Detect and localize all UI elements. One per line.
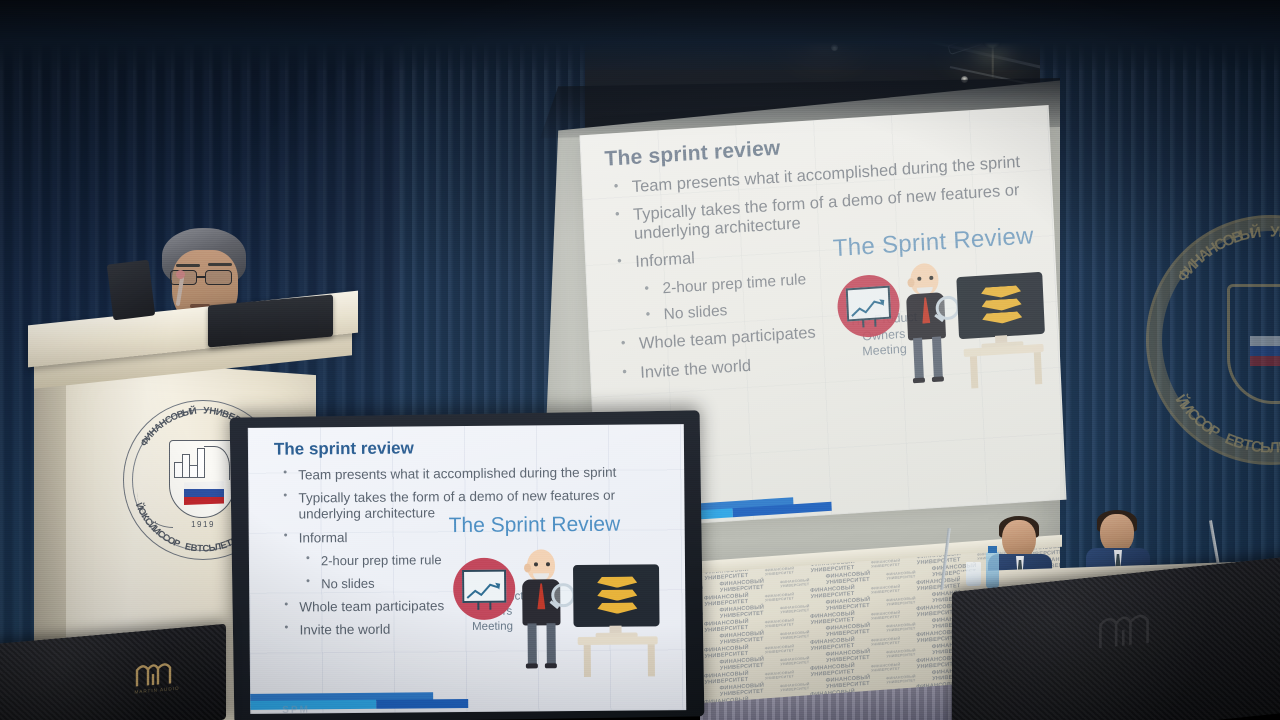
- stage-curtain-valance: [0, 0, 1280, 70]
- emblem-skyline: [174, 444, 232, 478]
- martin-audio-m-logo-icon: [1096, 606, 1162, 653]
- emblem-arc-char: [198, 406, 201, 417]
- emblem-arc-char: Й: [189, 406, 197, 418]
- growth-arrow-icon: [850, 298, 887, 318]
- monitor-footer-bars: [250, 684, 686, 714]
- table-leg: [648, 644, 655, 676]
- confidence-monitor-screen: The sprint review Team presents what it …: [248, 424, 686, 714]
- footer-bar: [377, 699, 469, 709]
- monitor-bullet: Team presents what it accomplished durin…: [274, 464, 674, 483]
- flipchart-legs: [862, 319, 876, 328]
- illustration-group: [451, 528, 668, 690]
- conference-photo-scene: ФИНАНСОВЫЙ УНИВЕРСИТЕТПРИ ПРАВИТЕЛЬСТВЕ …: [0, 0, 1280, 720]
- table-leg: [970, 356, 978, 388]
- layers-icon: [981, 285, 1023, 326]
- monitor-slide-title: The sprint review: [274, 438, 414, 459]
- footer-bar: [250, 700, 377, 710]
- growth-arrow-icon: [466, 582, 502, 600]
- presenter-eyebrow: [208, 263, 232, 266]
- martin-audio-m-logo-icon: MARTIN AUDIO: [134, 658, 180, 690]
- emblem-arc-char: С: [202, 543, 209, 554]
- podium-microphone-head: [176, 270, 185, 279]
- bottle-cap: [988, 546, 997, 553]
- confidence-monitor[interactable]: The sprint review Team presents what it …: [230, 410, 705, 720]
- monitor-brand-logo: SPM: [282, 704, 310, 715]
- russian-flag-icon: [184, 481, 224, 505]
- emblem-shield: [169, 440, 235, 518]
- layers-icon: [597, 577, 637, 615]
- laptop-lid-secondary: [107, 260, 156, 321]
- russian-flag-icon: [1250, 336, 1280, 366]
- emblem-arc-char: [1263, 223, 1270, 240]
- person-eyes: [534, 562, 550, 566]
- flipchart-legs: [477, 602, 491, 610]
- person-legs: [913, 336, 943, 382]
- slide-artwork: The Sprint Review The Product Owners Mee…: [832, 221, 1056, 425]
- person-ear: [524, 563, 531, 572]
- water-bottle: [986, 552, 999, 588]
- table-icon: [964, 344, 1044, 357]
- monitor-artwork: The Sprint Review The Product Owners Mee…: [449, 512, 667, 694]
- illustration-group: [833, 235, 1056, 409]
- drinking-glass: [966, 562, 981, 586]
- table-icon: [578, 636, 658, 645]
- table-leg: [584, 645, 591, 677]
- emblem-fan-motif: [204, 446, 230, 480]
- table-leg: [1034, 352, 1042, 384]
- presenter-eyebrow: [176, 264, 200, 267]
- person-legs: [528, 623, 556, 667]
